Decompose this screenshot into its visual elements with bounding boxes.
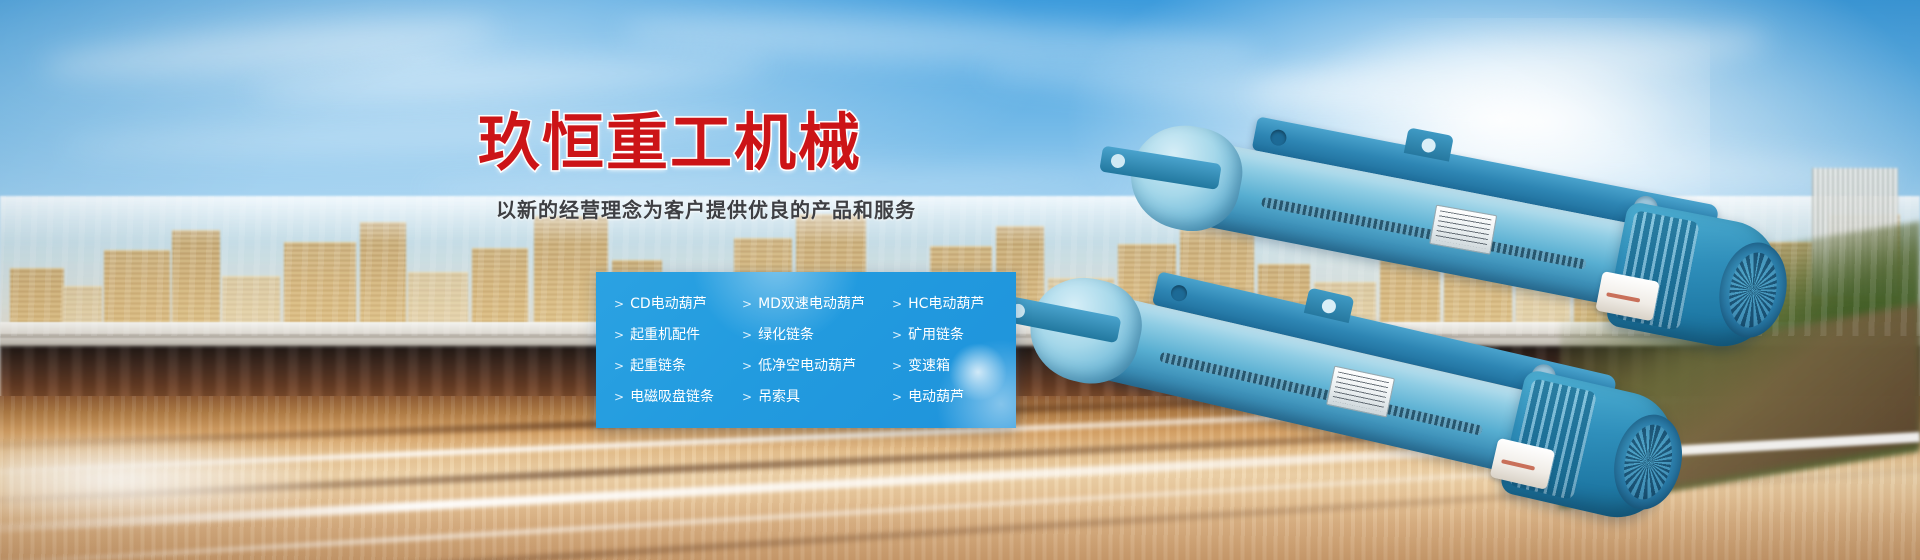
product-links-panel: > CD电动葫芦 > 起重机配件 > 起重链条 > 电磁吸盘链条 > MD双速电… — [596, 272, 1016, 428]
product-link-label: HC电动葫芦 — [908, 297, 984, 311]
chevron-right-icon: > — [742, 391, 752, 403]
chevron-right-icon: > — [742, 360, 752, 372]
product-link-label: 电磁吸盘链条 — [630, 390, 714, 404]
product-link[interactable]: > 低净空电动葫芦 — [742, 359, 892, 373]
product-link-label: 变速箱 — [908, 359, 950, 373]
chevron-right-icon: > — [614, 360, 624, 372]
company-subtitle: 以新的经营理念为客户提供优良的产品和服务 — [496, 194, 916, 223]
chevron-right-icon: > — [892, 329, 902, 341]
product-link[interactable]: > 变速箱 — [892, 359, 1016, 373]
product-link[interactable]: > 电动葫芦 — [892, 390, 1016, 404]
product-link[interactable]: > CD电动葫芦 — [614, 297, 742, 311]
product-link-label: MD双速电动葫芦 — [758, 297, 865, 311]
product-link-label: 起重机配件 — [630, 328, 700, 342]
product-link[interactable]: > 绿化链条 — [742, 328, 892, 342]
chevron-right-icon: > — [742, 298, 752, 310]
chevron-right-icon: > — [892, 360, 902, 372]
company-title: 玖恒重工机械 — [478, 112, 916, 174]
product-link[interactable]: > 电磁吸盘链条 — [614, 390, 742, 404]
product-link[interactable]: > 矿用链条 — [892, 328, 1016, 342]
headline-block: 玖恒重工机械 以新的经营理念为客户提供优良的产品和服务 — [478, 112, 916, 223]
chevron-right-icon: > — [892, 298, 902, 310]
product-link-label: 矿用链条 — [908, 328, 964, 342]
chevron-right-icon: > — [614, 391, 624, 403]
chevron-right-icon: > — [614, 298, 624, 310]
chevron-right-icon: > — [892, 391, 902, 403]
product-link-label: 吊索具 — [758, 390, 800, 404]
product-link[interactable]: > 吊索具 — [742, 390, 892, 404]
product-link[interactable]: > 起重机配件 — [614, 328, 742, 342]
chevron-right-icon: > — [614, 329, 624, 341]
product-link-label: 低净空电动葫芦 — [758, 359, 856, 373]
product-link-label: 起重链条 — [630, 359, 686, 373]
motor-fan-cover — [1605, 408, 1691, 516]
chevron-right-icon: > — [742, 329, 752, 341]
promo-banner: 玖恒重工机械 以新的经营理念为客户提供优良的产品和服务 > CD电动葫芦 > 起… — [0, 0, 1920, 560]
product-link[interactable]: > MD双速电动葫芦 — [742, 297, 892, 311]
product-link[interactable]: > 起重链条 — [614, 359, 742, 373]
product-link-label: CD电动葫芦 — [630, 297, 707, 311]
motor-fan-cover — [1711, 237, 1794, 344]
road-light-glow — [0, 420, 520, 540]
product-link-label: 电动葫芦 — [908, 390, 964, 404]
product-link-label: 绿化链条 — [758, 328, 814, 342]
product-link[interactable]: > HC电动葫芦 — [892, 297, 1016, 311]
